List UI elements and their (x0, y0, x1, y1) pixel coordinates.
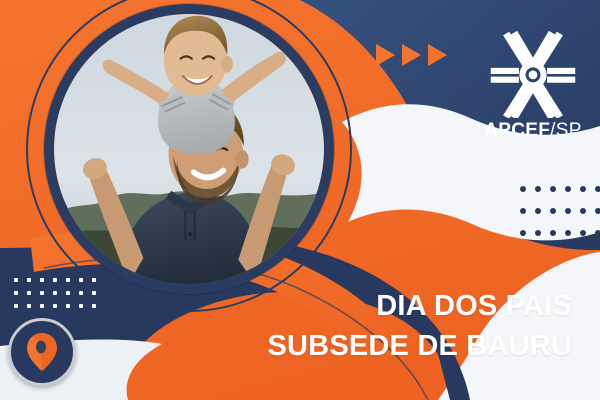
father-and-son-photo (54, 14, 324, 284)
headline-line-2: SUBSEDE DE BAURU (180, 326, 572, 366)
dot-grid-icon-left (14, 278, 105, 317)
triangle-right-icon (376, 44, 395, 66)
photo-inner (54, 14, 324, 284)
triangle-right-icon (428, 44, 447, 66)
circular-photo (44, 4, 334, 294)
arrow-group (376, 44, 447, 66)
apcef-wordmark: APCEF/SP (478, 120, 588, 142)
promotional-banner: APCEF/SP DIA DOS PAIS SUBSEDE DE BAURU (0, 0, 600, 400)
apcef-logo: APCEF/SP (478, 30, 588, 142)
headline: DIA DOS PAIS SUBSEDE DE BAURU (180, 286, 572, 366)
location-pin-icon (25, 332, 59, 372)
wordmark-secondary: SP (556, 120, 582, 141)
headline-line-1: DIA DOS PAIS (180, 286, 572, 326)
wordmark-primary: APCEF (484, 120, 550, 141)
triangle-right-icon (402, 44, 421, 66)
dot-grid-icon-right (520, 186, 600, 252)
location-pin-badge (8, 318, 76, 386)
apcef-star-logo-icon (489, 30, 577, 118)
